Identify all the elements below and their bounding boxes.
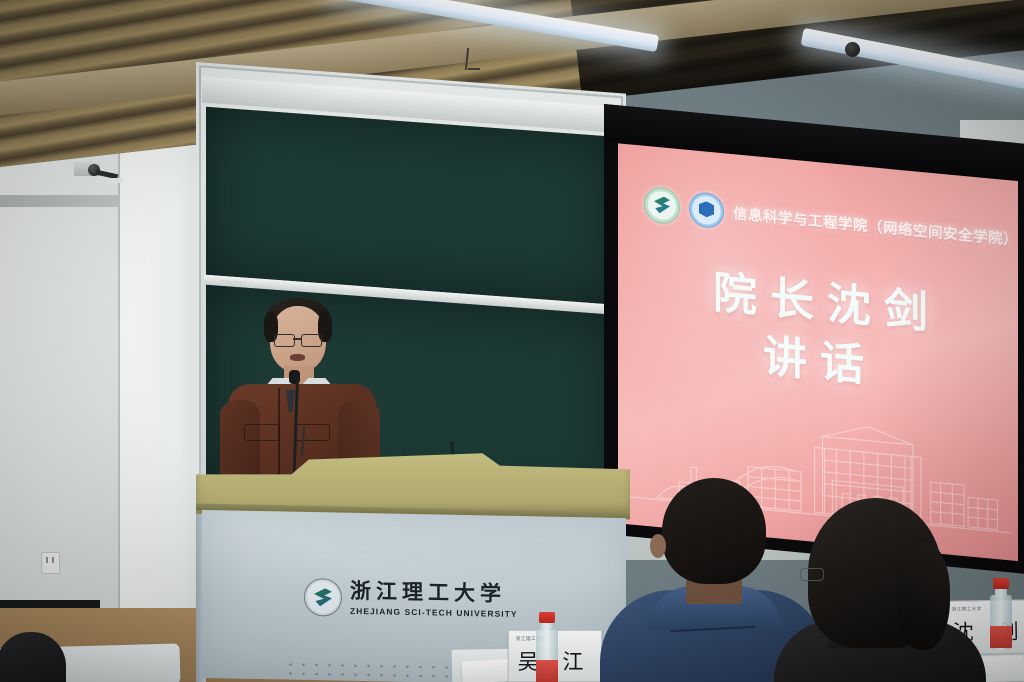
water-bottle-icon (988, 578, 1014, 650)
camera-bracket (96, 178, 122, 183)
audience-member-right (788, 498, 980, 682)
glasses-icon (800, 568, 824, 581)
jacket-pocket-right (294, 424, 330, 441)
head-short-hair (662, 478, 766, 584)
zstu-green-circular-logo-icon (644, 186, 680, 225)
zstu-seal-icon (304, 578, 342, 617)
podium-university-name-cn: 浙江理工大学 (350, 580, 518, 604)
speaker-mouth (290, 354, 305, 361)
lecture-hall-photo: 信息科学与工程学院（网络空间安全学院） 院长沈剑 讲话 (0, 0, 1024, 682)
podium-university-branding: 浙江理工大学 ZHEJIANG SCI-TECH UNIVERSITY (304, 578, 518, 620)
podium-university-name-en: ZHEJIANG SCI-TECH UNIVERSITY (350, 605, 518, 618)
jacket-pocket-left (244, 424, 280, 441)
power-outlet-icon (41, 552, 60, 574)
ceiling-speaker-icon (845, 42, 860, 57)
glasses-icon (274, 334, 322, 345)
hair-strand (896, 542, 950, 650)
ear (650, 534, 666, 558)
ceiling-wire-bracket (468, 68, 480, 70)
chalkboard-panel-upper (206, 107, 616, 305)
school-blue-circular-emblem-icon (689, 191, 724, 229)
water-bottle-icon (534, 612, 560, 682)
